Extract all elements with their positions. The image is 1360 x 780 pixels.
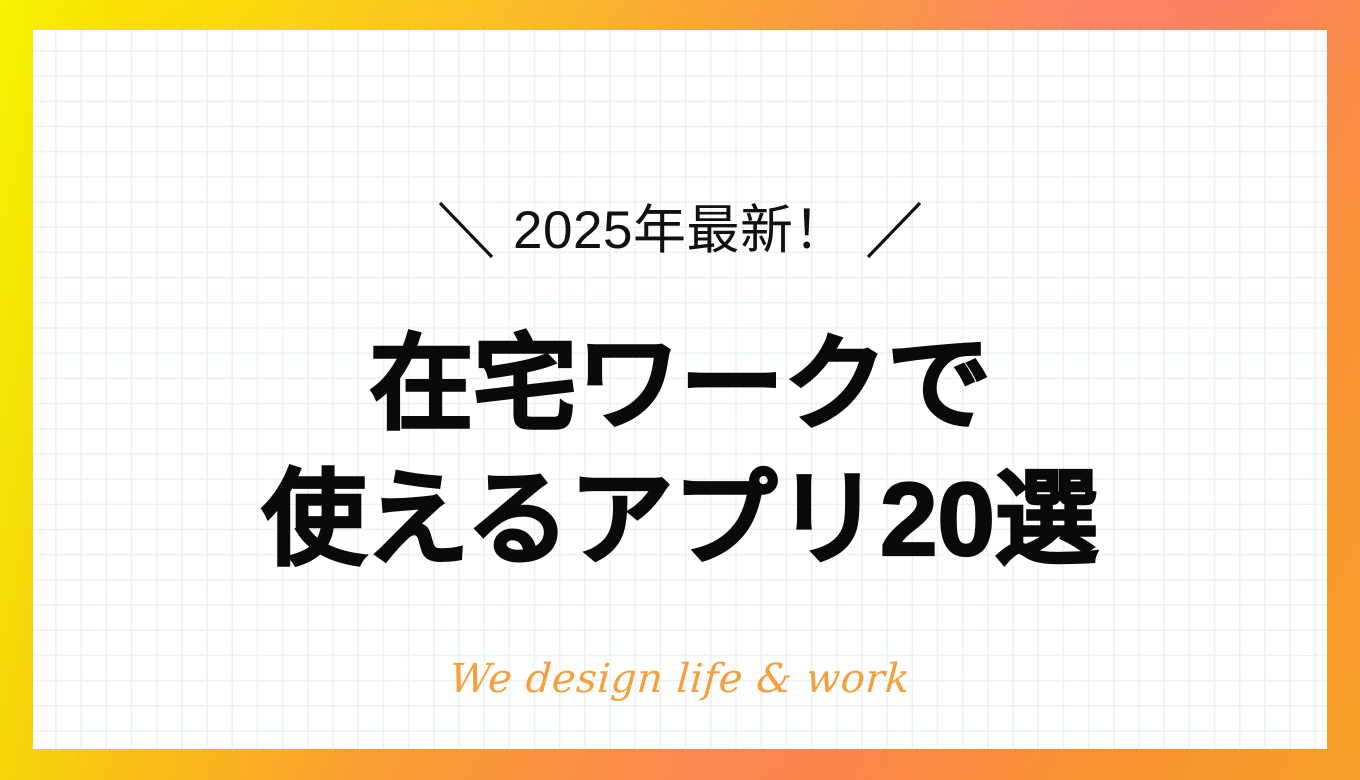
thumbnail-canvas: 2025年最新！ 在宅ワークで 使えるアプリ20選 We design life…: [0, 0, 1360, 780]
tagline-script: We design life & work: [33, 656, 1327, 702]
card-content-area: 2025年最新！ 在宅ワークで 使えるアプリ20選 We design life…: [33, 30, 1327, 749]
kicker-label: 2025年最新！: [513, 204, 847, 257]
kicker-row: 2025年最新！: [33, 190, 1327, 270]
grid-paper-card: 2025年最新！ 在宅ワークで 使えるアプリ20選 We design life…: [33, 30, 1327, 749]
headline-line-2: 使えるアプリ20選: [33, 453, 1327, 588]
headline-line-1: 在宅ワークで: [33, 318, 1327, 453]
headline-block: 在宅ワークで 使えるアプリ20選: [33, 318, 1327, 588]
forwardslash-icon: [865, 199, 923, 261]
backslash-icon: [437, 199, 495, 261]
